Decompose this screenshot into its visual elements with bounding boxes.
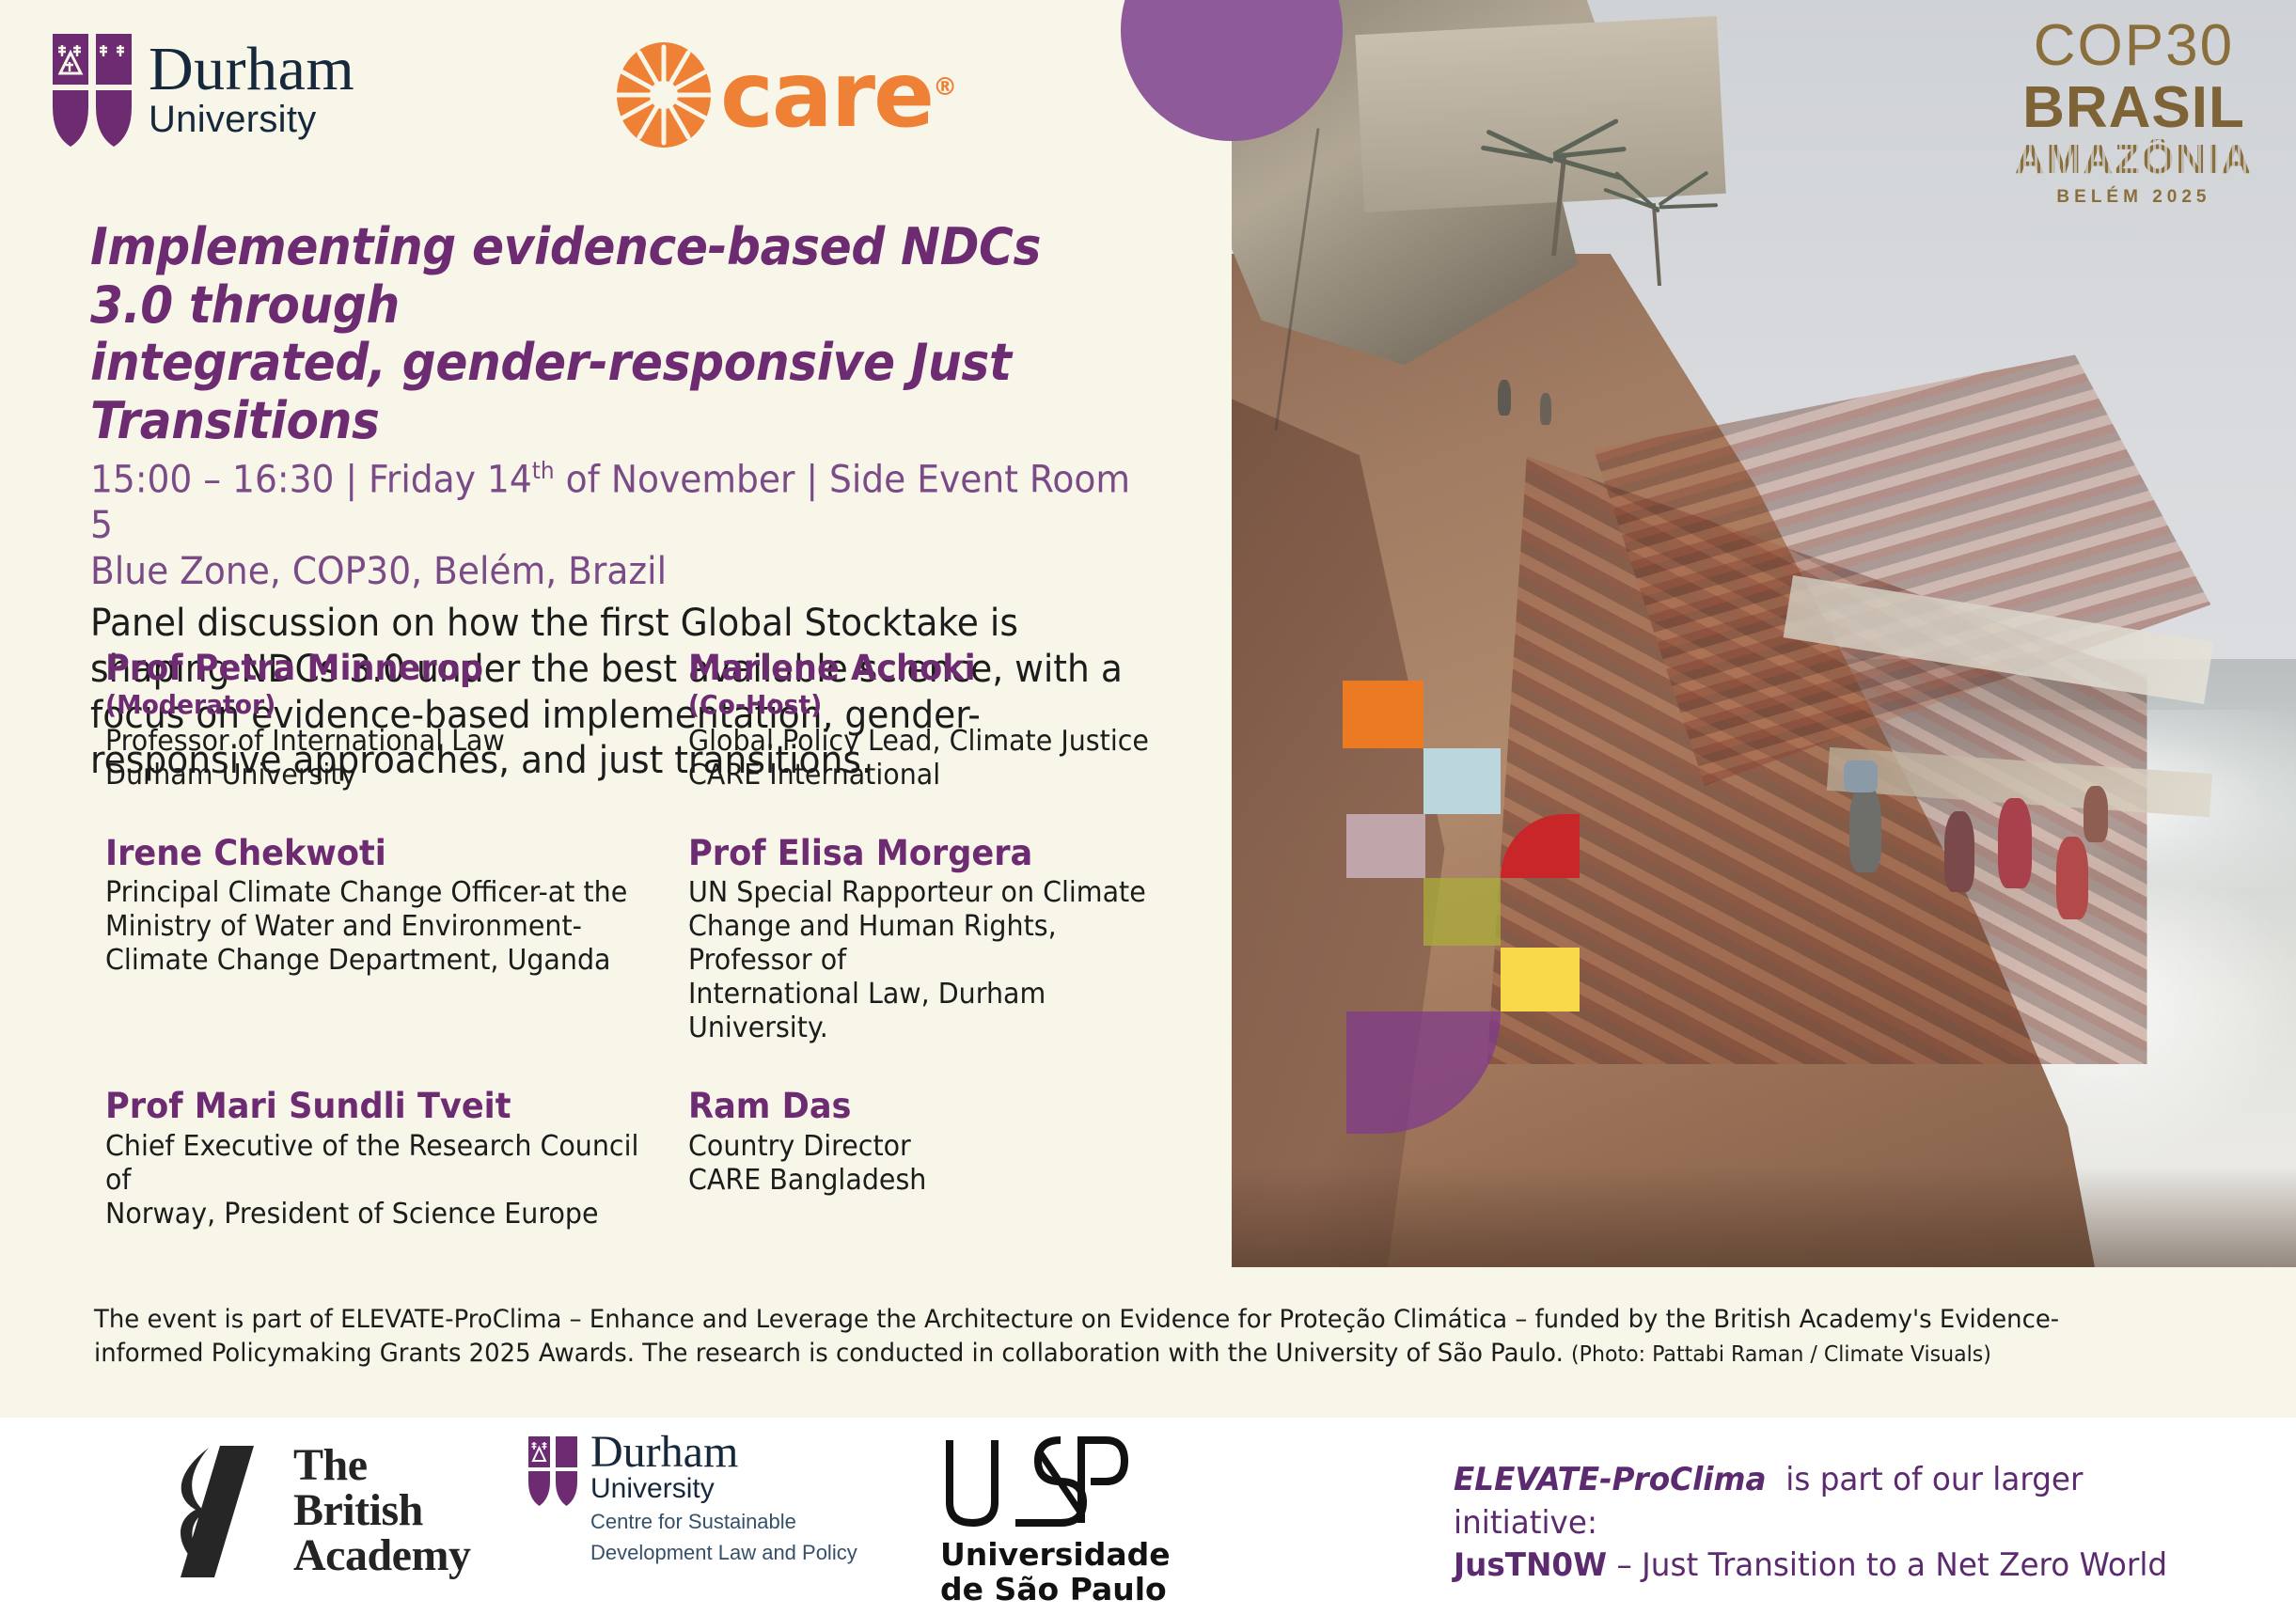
photo-person-4 <box>2056 837 2088 919</box>
durham-wordmark-line1: Durham <box>149 39 354 99</box>
usp-line1: Universidade <box>940 1538 1171 1573</box>
care-wordmark: care® <box>720 50 955 140</box>
durham-university-wordmark: Durham University <box>149 39 354 138</box>
speaker-card: Irene Chekwoti Principal Climate Change … <box>105 834 688 1045</box>
partner-logo-bar: The British Academy <box>0 1418 2296 1615</box>
swatch-mauve <box>1346 814 1425 878</box>
british-academy-mark-icon <box>167 1440 278 1581</box>
british-academy-line1: The <box>293 1443 470 1488</box>
speaker-role: (Moderator) <box>105 689 659 721</box>
photo-credit: (Photo: Pattabi Raman / Climate Visuals) <box>1571 1342 1991 1367</box>
usp-line2: de São Paulo <box>940 1573 1171 1607</box>
photo-concrete-slab <box>1355 16 1725 212</box>
speaker-name: Irene Chekwoti <box>105 834 659 872</box>
swatch-olive <box>1423 878 1501 946</box>
event-datetime-prefix: 15:00 – 16:30 | Friday 14 <box>90 459 532 502</box>
initiative-line1: ELEVATE-ProClima is part of our larger i… <box>1454 1459 2203 1544</box>
speaker-card: Prof Elisa Morgera UN Special Rapporteur… <box>688 834 1215 1045</box>
speaker-card: Ram Das Country Director CARE Bangladesh <box>688 1087 1215 1231</box>
speaker-card: Marlene Achoki (Co-Host) Global Policy L… <box>688 649 1215 792</box>
speaker-card: Prof Mari Sundli Tveit Chief Executive o… <box>105 1087 688 1231</box>
care-wordmark-text: care <box>720 42 933 148</box>
cop30-logo-line2: BRASIL <box>2015 79 2253 137</box>
swatch-yellow <box>1501 948 1580 1011</box>
british-academy-logo: The British Academy <box>167 1440 470 1581</box>
initiative-brand: ELEVATE-ProClima <box>1454 1461 1766 1498</box>
durham-csdlp-logo: Durham University Centre for Sustainable… <box>527 1431 857 1566</box>
speaker-affiliation: Professor of International Law Durham Un… <box>105 725 659 792</box>
speaker-affiliation: Chief Executive of the Research Council … <box>105 1130 659 1231</box>
event-datetime: 15:00 – 16:30 | Friday 14th of November … <box>90 457 1142 549</box>
durham-csdlp-line3: Centre for Sustainable <box>590 1510 857 1535</box>
photo-person-1 <box>1849 786 1881 872</box>
usp-wordmark: Universidade de São Paulo <box>940 1538 1171 1607</box>
speaker-name: Prof Elisa Morgera <box>688 834 1188 872</box>
speaker-card: Prof Petra Minnerop (Moderator) Professo… <box>105 649 688 792</box>
cop30-logo-line1: COP30 <box>2015 17 2253 75</box>
initiative-project: JusTN0W <box>1454 1546 1607 1584</box>
durham-csdlp-line1: Durham <box>590 1431 857 1473</box>
event-title-line2: integrated, gender-responsive Just Trans… <box>90 334 1131 449</box>
cop30-logo-line4: BELÉM 2025 <box>2015 188 2253 206</box>
cop30-logo-line3: AMAZÔNIA <box>2015 139 2253 180</box>
photo-person-distant-1 <box>1498 380 1511 416</box>
british-academy-line2: British <box>293 1488 470 1533</box>
durham-shield-icon <box>527 1435 579 1508</box>
british-academy-line3: Academy <box>293 1533 470 1578</box>
photo-person-2 <box>1944 811 1974 892</box>
initiative-line2: JusTN0W – Just Transition to a Net Zero … <box>1454 1544 2203 1588</box>
event-poster: COP30 BRASIL AMAZÔNIA BELÉM 2025 <box>0 0 2296 1615</box>
event-datetime-ordinal: th <box>532 457 555 484</box>
speaker-name: Marlene Achoki <box>688 649 1188 687</box>
speaker-list: Prof Petra Minnerop (Moderator) Professo… <box>105 649 1215 1231</box>
swatch-light-blue <box>1423 748 1501 814</box>
speaker-role: (Co-Host) <box>688 689 1188 721</box>
speaker-affiliation: Principal Climate Change Officer-at the … <box>105 876 659 978</box>
durham-csdlp-line4: Development Law and Policy <box>590 1541 857 1566</box>
durham-wordmark-line2: University <box>149 100 354 139</box>
usp-logo: Universidade de São Paulo <box>940 1433 1171 1607</box>
durham-shield-icon <box>49 30 135 149</box>
cop30-logo: COP30 BRASIL AMAZÔNIA BELÉM 2025 <box>2015 17 2253 206</box>
photo-person-5 <box>2084 786 2108 842</box>
durham-csdlp-line2: University <box>590 1473 857 1504</box>
british-academy-wordmark: The British Academy <box>293 1443 470 1578</box>
speaker-affiliation: Global Policy Lead, Climate Justice CARE… <box>688 725 1188 792</box>
usp-mark-icon <box>940 1433 1128 1532</box>
photo-person-distant-2 <box>1540 393 1551 425</box>
care-sunburst-icon <box>613 39 715 150</box>
speaker-name: Prof Petra Minnerop <box>105 649 659 687</box>
speaker-affiliation: Country Director CARE Bangladesh <box>688 1130 1188 1198</box>
speaker-name: Ram Das <box>688 1087 1188 1125</box>
event-location: Blue Zone, COP30, Belém, Brazil <box>90 549 1142 595</box>
swatch-orange <box>1343 681 1423 748</box>
care-logo: care® <box>613 39 955 150</box>
speaker-name: Prof Mari Sundli Tveit <box>105 1087 659 1125</box>
durham-university-logo: Durham University <box>49 30 354 149</box>
care-registered-mark: ® <box>933 73 955 102</box>
funding-footnote: The event is part of ELEVATE-ProClima – … <box>94 1303 2143 1370</box>
photo-bottom-shadow <box>1232 1166 2296 1267</box>
durham-csdlp-wordmark: Durham University Centre for Sustainable… <box>590 1431 857 1566</box>
initiative-statement: ELEVATE-ProClima is part of our larger i… <box>1454 1459 2203 1588</box>
speaker-affiliation: UN Special Rapporteur on Climate Change … <box>688 876 1188 1045</box>
photo-person-3 <box>1998 798 2032 888</box>
photo-person-1-shirt <box>1844 760 1878 792</box>
event-title-line1: Implementing evidence-based NDCs 3.0 thr… <box>90 218 1131 334</box>
initiative-project-tail: – Just Transition to a Net Zero World <box>1616 1546 2167 1584</box>
